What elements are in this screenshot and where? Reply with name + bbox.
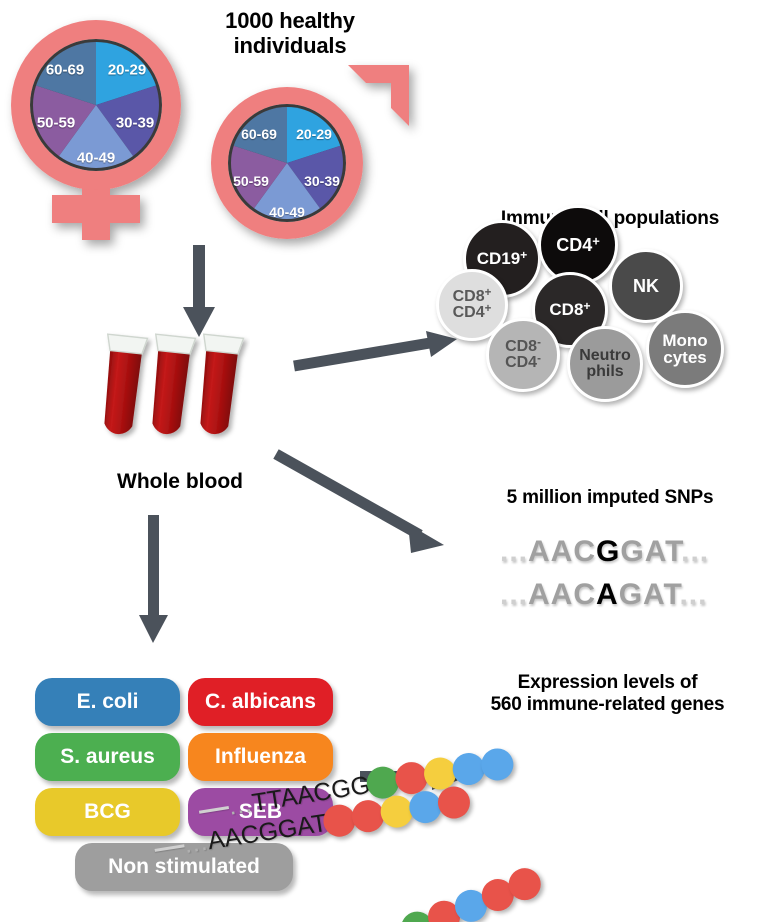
immune-cell-label: CD8+CD4+ xyxy=(453,289,492,322)
expression-title-line1: Expression levels of xyxy=(450,672,765,694)
gene-dot-4 xyxy=(477,874,519,916)
immune-cell-populations-title: Immune cell populations xyxy=(455,208,765,230)
pie-label-30-39: 30-39 xyxy=(116,115,154,132)
stimulation-label: S. aureus xyxy=(60,745,155,769)
immune-cell-nk: NK xyxy=(609,249,683,323)
immune-cell-label: CD8+ xyxy=(549,301,590,318)
female-gender-symbol: 20-29 30-39 40-49 50-59 60-69 xyxy=(8,10,208,245)
stimulation-influenza[interactable]: Influenza xyxy=(188,733,333,781)
immune-cell-cd19: CD19+ xyxy=(463,220,541,298)
snp-trail-dots: ... xyxy=(681,535,709,568)
expression-title: Expression levels of 560 immune-related … xyxy=(450,672,765,716)
immune-cell-neutrophils: Neutrophils xyxy=(567,326,643,402)
pie-label-20-29: 20-29 xyxy=(108,62,146,79)
snp-suffix: GAT xyxy=(619,578,680,611)
immune-cell-label: NK xyxy=(633,277,659,295)
pie-label-50-59: 50-59 xyxy=(37,115,75,132)
expression-title-line2: 560 immune-related genes xyxy=(450,694,765,716)
immune-cell-label: Monocytes xyxy=(662,332,707,367)
stimulation-s-aureus[interactable]: S. aureus xyxy=(35,733,180,781)
gene-dot-1 xyxy=(397,907,439,922)
arrow-blood-to-immune-cells xyxy=(290,330,465,380)
male-gender-symbol: 20-29 30-39 40-49 50-59 60-69 xyxy=(205,55,420,245)
pie-label-60-69: 60-69 xyxy=(241,126,277,142)
immune-cell-label: CD19+ xyxy=(477,250,528,267)
pie-label-20-29: 20-29 xyxy=(296,126,332,142)
stimulation-label: C. albicans xyxy=(205,690,316,714)
arrow-blood-to-snps xyxy=(272,450,467,560)
stimulation-label: E. coli xyxy=(77,690,139,714)
snp-prefix: AAC xyxy=(528,578,596,611)
snp-sequence-row-2: ...AACAGAT... xyxy=(500,578,707,612)
stimulation-seb[interactable]: SEB xyxy=(188,788,333,836)
gene-dot-5 xyxy=(479,746,516,783)
gene-dot-5 xyxy=(504,863,546,905)
immune-cell-label: CD8-CD4- xyxy=(505,339,541,372)
snp-variant-allele: A xyxy=(596,578,619,611)
snp-title: 5 million imputed SNPs xyxy=(455,487,765,509)
immune-cell-label: Neutrophils xyxy=(579,348,631,381)
stimulation-c-albicans[interactable]: C. albicans xyxy=(188,678,333,726)
snp-lead-dots: ... xyxy=(500,535,528,568)
immune-cell-cd8: CD8+ xyxy=(532,272,608,348)
arrow-down-cohort-to-blood xyxy=(180,245,220,340)
pie-label-60-69: 60-69 xyxy=(46,62,84,79)
pie-label-40-49: 40-49 xyxy=(269,204,305,220)
gene-dot-2 xyxy=(350,798,387,835)
immune-cell-cd8-cd4: CD8-CD4- xyxy=(486,318,560,392)
snp-prefix: AAC xyxy=(528,535,596,568)
blood-tube-icon xyxy=(100,330,250,460)
stimulation-non-stimulated[interactable]: Non stimulated xyxy=(75,843,293,891)
pie-label-50-59: 50-59 xyxy=(233,173,269,189)
pie-label-30-39: 30-39 xyxy=(304,173,340,189)
snp-trail-dots: ... xyxy=(679,578,707,611)
study-design-figure: 1000 healthy individuals xyxy=(0,0,771,922)
snp-sequence-row-1: ...AACGGAT... xyxy=(500,535,709,569)
snp-suffix: GAT xyxy=(620,535,681,568)
pie-label-40-49: 40-49 xyxy=(77,150,115,167)
stimulation-bcg[interactable]: BCG xyxy=(35,788,180,836)
stimulation-label: Influenza xyxy=(215,745,306,769)
gene-dot-3 xyxy=(451,885,493,922)
stimulation-label: BCG xyxy=(84,800,131,824)
snp-variant-allele: G xyxy=(596,535,620,568)
snp-lead-dots: ... xyxy=(500,578,528,611)
gene-dot-2 xyxy=(424,896,466,922)
stimulation-label: SEB xyxy=(239,800,282,824)
arrow-stimulation-to-expression xyxy=(360,760,475,800)
immune-cell-monocytes: Monocytes xyxy=(646,310,724,388)
stimulation-e-coli[interactable]: E. coli xyxy=(35,678,180,726)
whole-blood-label: Whole blood xyxy=(60,470,300,494)
page-title: 1000 healthy individuals xyxy=(175,8,405,59)
stimulation-label: Non stimulated xyxy=(108,855,260,879)
immune-cell-label: CD4+ xyxy=(556,236,600,254)
arrow-down-blood-to-stimulation xyxy=(135,515,175,645)
